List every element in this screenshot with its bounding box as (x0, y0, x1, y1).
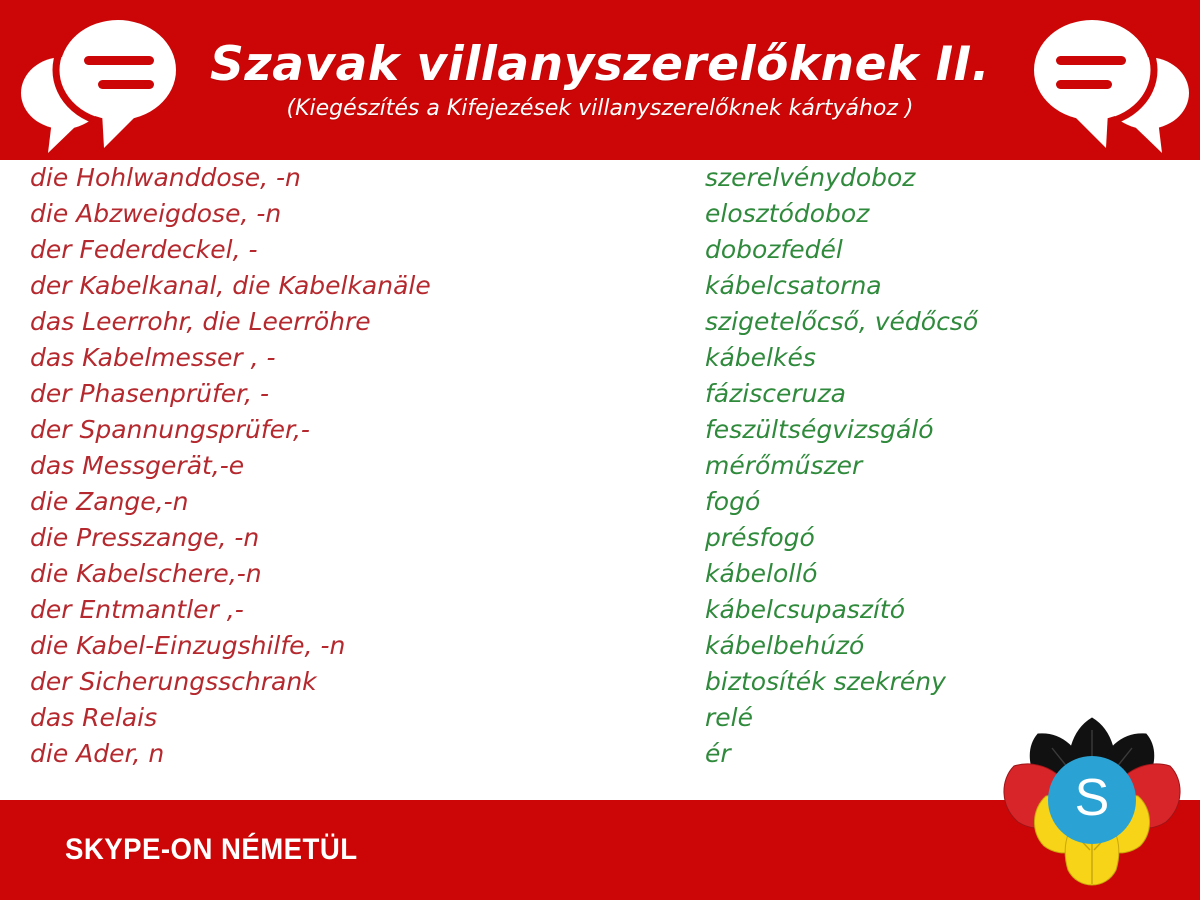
german-term: der Federdeckel, - (30, 232, 257, 268)
german-term: die Presszange, -n (30, 520, 259, 556)
hungarian-gloss: mérőműszer (705, 448, 862, 484)
table-row: das Kabelmesser , - kábelkés (0, 340, 1200, 376)
hungarian-gloss: dobozfedél (705, 232, 843, 268)
german-term: das Relais (30, 700, 157, 736)
table-row: die Presszange, -n présfogó (0, 520, 1200, 556)
hungarian-gloss: biztosíték szekrény (705, 664, 946, 700)
table-row: der Entmantler ,- kábelcsupaszító (0, 592, 1200, 628)
hungarian-gloss: kábelbehúzó (705, 628, 864, 664)
table-row: die Kabelschere,-n kábelolló (0, 556, 1200, 592)
german-term: der Sicherungsschrank (30, 664, 317, 700)
skype-flower-logo: S (992, 700, 1192, 900)
table-row: der Federdeckel, - dobozfedél (0, 232, 1200, 268)
hungarian-gloss: relé (705, 700, 753, 736)
table-row: das Messgerät,-e mérőműszer (0, 448, 1200, 484)
hungarian-gloss: kábelolló (705, 556, 817, 592)
german-term: die Hohlwanddose, -n (30, 160, 301, 196)
hungarian-gloss: fázisceruza (705, 376, 846, 412)
table-row: der Spannungsprüfer,- feszültségvizsgáló (0, 412, 1200, 448)
german-term: die Abzweigdose, -n (30, 196, 281, 232)
german-term: der Spannungsprüfer,- (30, 412, 310, 448)
hungarian-gloss: kábelcsupaszító (705, 592, 905, 628)
german-term: die Zange,-n (30, 484, 189, 520)
table-row: der Sicherungsschrank biztosíték szekrén… (0, 664, 1200, 700)
german-term: die Ader, n (30, 736, 164, 772)
german-term: das Kabelmesser , - (30, 340, 275, 376)
german-term: die Kabel-Einzugshilfe, -n (30, 628, 345, 664)
brand-name: SKYPE-ON NÉMETÜL (65, 800, 358, 900)
table-row: der Kabelkanal, die Kabelkanäle kábelcsa… (0, 268, 1200, 304)
speech-bubbles-icon-right (997, 8, 1192, 156)
german-term: das Messgerät,-e (30, 448, 244, 484)
page-title: Szavak villanyszerelőknek II. (210, 41, 990, 88)
header-banner: Szavak villanyszerelőknek II. (Kiegészít… (0, 0, 1200, 160)
table-row: das Leerrohr, die Leerröhre szigetelőcső… (0, 304, 1200, 340)
german-term: die Kabelschere,-n (30, 556, 262, 592)
speech-bubbles-icon-left (18, 8, 213, 156)
table-row: die Abzweigdose, -n elosztódoboz (0, 196, 1200, 232)
page-subtitle: (Kiegészítés a Kifejezések villanyszerel… (286, 98, 913, 120)
header-title-block: Szavak villanyszerelőknek II. (Kiegészít… (200, 0, 1000, 160)
hungarian-gloss: elosztódoboz (705, 196, 869, 232)
hungarian-gloss: szerelvénydoboz (705, 160, 915, 196)
hungarian-gloss: ér (705, 736, 731, 772)
german-term: der Kabelkanal, die Kabelkanäle (30, 268, 431, 304)
table-row: die Hohlwanddose, -n szerelvénydoboz (0, 160, 1200, 196)
table-row: die Zange,-n fogó (0, 484, 1200, 520)
table-row: der Phasenprüfer, - fázisceruza (0, 376, 1200, 412)
hungarian-gloss: fogó (705, 484, 760, 520)
hungarian-gloss: kábelcsatorna (705, 268, 882, 304)
table-row: die Kabel-Einzugshilfe, -n kábelbehúzó (0, 628, 1200, 664)
german-term: der Phasenprüfer, - (30, 376, 269, 412)
hungarian-gloss: szigetelőcső, védőcső (705, 304, 978, 340)
german-term: das Leerrohr, die Leerröhre (30, 304, 371, 340)
flashcard: Szavak villanyszerelőknek II. (Kiegészít… (0, 0, 1200, 900)
hungarian-gloss: kábelkés (705, 340, 816, 376)
hungarian-gloss: feszültségvizsgáló (705, 412, 934, 448)
german-term: der Entmantler ,- (30, 592, 244, 628)
hungarian-gloss: présfogó (705, 520, 815, 556)
